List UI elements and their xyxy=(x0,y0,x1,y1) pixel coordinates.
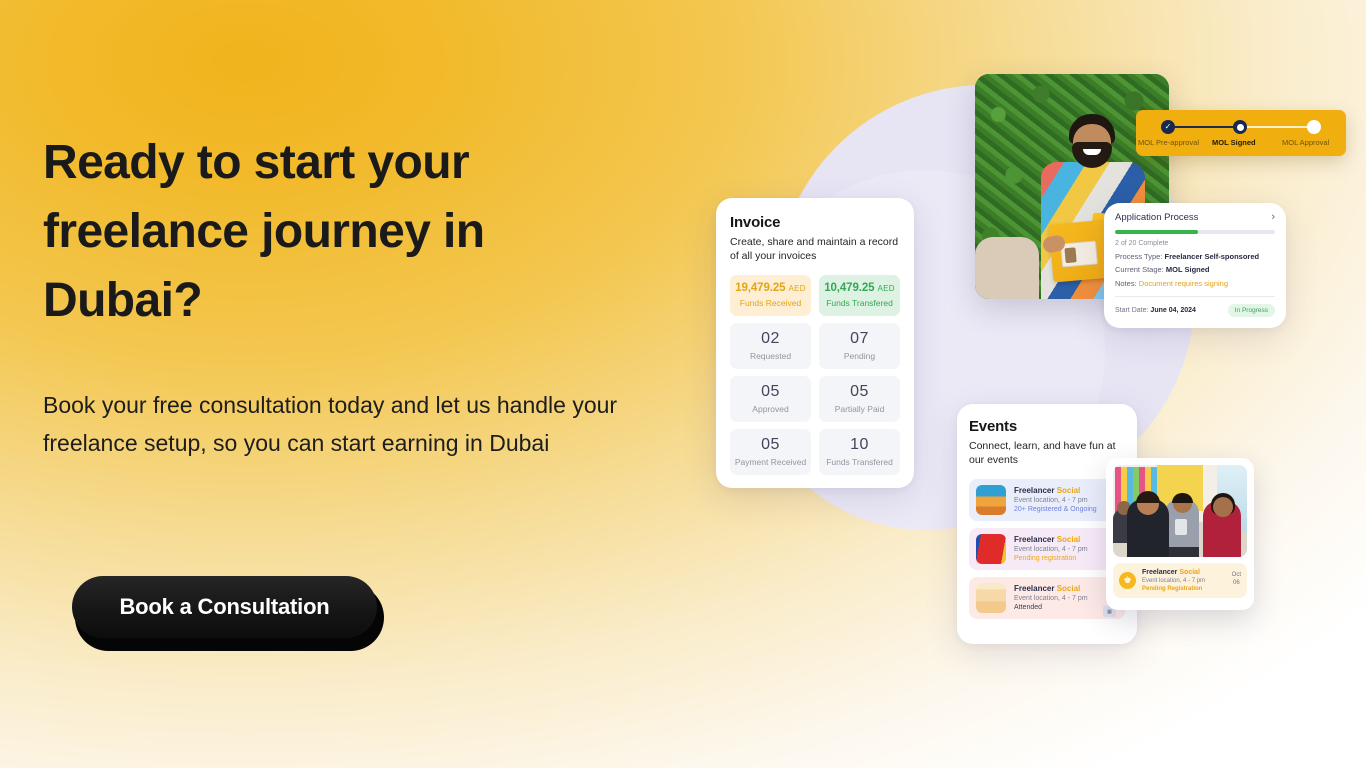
invoice-stat-label: Partially Paid xyxy=(821,404,898,414)
divider xyxy=(1115,296,1275,297)
row-value: MOL Signed xyxy=(1166,265,1210,274)
invoice-stat-value: 07 xyxy=(821,330,898,348)
row-label: Notes: xyxy=(1115,279,1137,288)
row-label: Current Stage: xyxy=(1115,265,1164,274)
chevron-right-icon[interactable]: › xyxy=(1271,212,1275,223)
invoice-card-title: Invoice xyxy=(730,214,900,231)
application-process-card[interactable]: Application Process › 2 of 20 Complete P… xyxy=(1104,203,1286,328)
event-detail-status: Pending Registration xyxy=(1142,586,1205,592)
event-detail-date: Oct 06 xyxy=(1232,571,1241,587)
currency-label: AED xyxy=(877,284,894,293)
application-row-current-stage: Current Stage: MOL Signed xyxy=(1115,265,1275,274)
invoice-card[interactable]: Invoice Create, share and maintain a rec… xyxy=(716,198,914,488)
progress-bar-fill xyxy=(1115,230,1198,234)
event-title: Freelancer Social xyxy=(1014,535,1088,544)
invoice-stat-requested[interactable]: 02 Requested xyxy=(730,323,811,369)
invoice-card-subtitle: Create, share and maintain a record of a… xyxy=(730,235,900,264)
event-detail-photo xyxy=(1113,465,1247,557)
hero-copy: Ready to start your freelance journey in… xyxy=(43,128,663,462)
hero-subtitle: Book your free consultation today and le… xyxy=(43,387,658,462)
event-thumbnail-icon xyxy=(976,583,1006,613)
step-label-mol-pre-approval: MOL Pre-approval xyxy=(1138,138,1199,147)
application-row-notes: Notes: Document requires signing xyxy=(1115,279,1275,288)
list-item[interactable]: Freelancer Social Event location, 4 - 7 … xyxy=(969,528,1125,570)
invoice-stat-value: 05 xyxy=(732,436,809,454)
crown-icon: ♚ xyxy=(1119,572,1136,589)
invoice-stat-funds-transfered-count[interactable]: 10 Funds Transfered xyxy=(819,429,900,475)
progress-bar xyxy=(1115,230,1275,234)
hero-section: Ready to start your freelance journey in… xyxy=(0,0,1366,768)
event-detail-day: 06 xyxy=(1232,579,1241,587)
application-process-footer: Start Date: June 04, 2024 In Progress xyxy=(1115,304,1275,317)
events-card-subtitle: Connect, learn, and have fun at our even… xyxy=(969,439,1125,468)
step-label-mol-approval: MOL Approval xyxy=(1282,138,1329,147)
step-dot-mol-pre-approval[interactable]: ✓ xyxy=(1161,120,1175,134)
invoice-amount: 19,479.25AED xyxy=(732,282,809,294)
start-date: Start Date: June 04, 2024 xyxy=(1115,307,1196,314)
event-detail-title-accent: Social xyxy=(1179,569,1200,576)
list-item[interactable]: Freelancer Social Event location, 4 - 7 … xyxy=(969,577,1125,619)
event-location: Event location, 4 - 7 pm xyxy=(1014,497,1097,504)
step-label-mol-signed: MOL Signed xyxy=(1212,138,1256,147)
event-detail-title: Freelancer Social xyxy=(1142,569,1205,576)
invoice-stat-pending[interactable]: 07 Pending xyxy=(819,323,900,369)
invoice-stat-value: 10 xyxy=(821,436,898,454)
event-location: Event location, 4 - 7 pm xyxy=(1014,546,1088,553)
event-detail-location: Event location, 4 - 7 pm xyxy=(1142,578,1205,584)
event-detail-month: Oct xyxy=(1232,571,1241,579)
event-thumbnail-icon xyxy=(976,534,1006,564)
list-item[interactable]: Freelancer Social Event location, 4 - 7 … xyxy=(969,479,1125,521)
event-meta: Freelancer Social Event location, 4 - 7 … xyxy=(1014,535,1088,562)
cta-container: Book a Consultation xyxy=(72,576,384,651)
start-date-label: Start Date: xyxy=(1115,307,1148,314)
event-title: Freelancer Social xyxy=(1014,584,1088,593)
status-badge: In Progress xyxy=(1228,304,1275,317)
row-value: Freelancer Self-sponsored xyxy=(1164,252,1259,261)
invoice-amount: 10,479.25AED xyxy=(821,282,898,294)
invoice-stat-approved[interactable]: 05 Approved xyxy=(730,376,811,422)
events-card-title: Events xyxy=(969,418,1125,435)
row-label: Process Type: xyxy=(1115,252,1162,261)
page-title: Ready to start your freelance journey in… xyxy=(43,128,513,335)
application-stepper[interactable]: ✓ MOL Pre-approval MOL Signed MOL Approv… xyxy=(1136,110,1346,156)
invoice-stats-grid: 19,479.25AED Funds Received 10,479.25AED… xyxy=(730,275,900,475)
invoice-stat-funds-transfered[interactable]: 10,479.25AED Funds Transfered xyxy=(819,275,900,316)
invoice-stat-value: 02 xyxy=(732,330,809,348)
row-value: Document requires signing xyxy=(1139,279,1228,288)
event-detail-meta: Freelancer Social Event location, 4 - 7 … xyxy=(1142,569,1205,592)
event-status: 20+ Registered & Ongoing xyxy=(1014,506,1097,513)
invoice-stat-label: Funds Transfered xyxy=(821,457,898,467)
event-location: Event location, 4 - 7 pm xyxy=(1014,595,1088,602)
events-list: Freelancer Social Event location, 4 - 7 … xyxy=(969,479,1125,619)
invoice-stat-label: Funds Received xyxy=(732,298,809,308)
event-detail-info: ♚ Freelancer Social Event location, 4 - … xyxy=(1113,563,1247,598)
invoice-stat-label: Approved xyxy=(732,404,809,414)
event-status: Attended xyxy=(1014,604,1088,611)
progress-text: 2 of 20 Complete xyxy=(1115,240,1275,247)
stepper-track-completed xyxy=(1168,126,1240,128)
application-row-process-type: Process Type: Freelancer Self-sponsored xyxy=(1115,252,1275,261)
event-meta: Freelancer Social Event location, 4 - 7 … xyxy=(1014,584,1088,611)
check-icon: ✓ xyxy=(1165,123,1172,131)
event-title-accent: Social xyxy=(1057,584,1081,593)
application-process-title: Application Process xyxy=(1115,212,1198,223)
invoice-stat-label: Pending xyxy=(821,351,898,361)
event-title: Freelancer Social xyxy=(1014,486,1097,495)
event-title-accent: Social xyxy=(1057,535,1081,544)
step-dot-mol-signed[interactable] xyxy=(1233,120,1247,134)
invoice-stat-value: 05 xyxy=(732,383,809,401)
application-process-header: Application Process › xyxy=(1115,212,1275,223)
invoice-stat-payment-received[interactable]: 05 Payment Received xyxy=(730,429,811,475)
invoice-stat-value: 05 xyxy=(821,383,898,401)
book-consultation-button[interactable]: Book a Consultation xyxy=(72,576,377,638)
start-date-value: June 04, 2024 xyxy=(1150,307,1196,314)
invoice-stat-label: Requested xyxy=(732,351,809,361)
step-dot-mol-approval[interactable] xyxy=(1307,120,1321,134)
currency-label: AED xyxy=(788,284,805,293)
event-status: Pending registration xyxy=(1014,555,1088,562)
event-thumbnail-icon xyxy=(976,485,1006,515)
event-meta: Freelancer Social Event location, 4 - 7 … xyxy=(1014,486,1097,513)
event-detail-card[interactable]: ♚ Freelancer Social Event location, 4 - … xyxy=(1106,458,1254,610)
invoice-stat-label: Funds Transfered xyxy=(821,298,898,308)
invoice-stat-label: Payment Received xyxy=(732,457,809,467)
event-title-accent: Social xyxy=(1057,486,1081,495)
invoice-stat-partially-paid[interactable]: 05 Partially Paid xyxy=(819,376,900,422)
invoice-stat-funds-received[interactable]: 19,479.25AED Funds Received xyxy=(730,275,811,316)
